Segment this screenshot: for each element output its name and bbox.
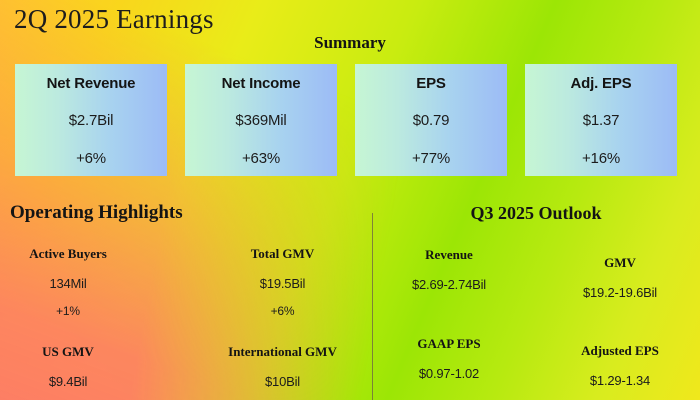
operating-highlights-heading: Operating Highlights <box>10 202 183 224</box>
section-divider <box>372 213 373 400</box>
metric-card-net-revenue: Net Revenue $2.7Bil +6% <box>15 64 167 176</box>
stat-label: GAAP EPS <box>381 336 517 352</box>
stat-value: $10Bil <box>205 374 360 389</box>
stat-international-gmv: International GMV $10Bil <box>205 344 360 389</box>
stat-label: Adjusted EPS <box>545 343 695 359</box>
metric-card-value: $369Mil <box>235 112 286 129</box>
stat-value: $2.69-2.74Bil <box>381 277 517 292</box>
stat-value: 134Mil <box>3 276 133 291</box>
metric-card-title: EPS <box>416 75 445 92</box>
stat-active-buyers: Active Buyers 134Mil +1% <box>3 246 133 318</box>
metric-card-title: Net Income <box>222 75 301 92</box>
metric-card-adj-eps: Adj. EPS $1.37 +16% <box>525 64 677 176</box>
metric-card-value: $1.37 <box>583 112 620 129</box>
stat-label: Revenue <box>381 247 517 263</box>
metric-card-change: +77% <box>412 150 450 167</box>
outlook-adjusted-eps: Adjusted EPS $1.29-1.34 <box>545 343 695 388</box>
stat-change: +6% <box>205 304 360 318</box>
page-title: 2Q 2025 Earnings <box>14 4 214 35</box>
summary-section-heading: Summary <box>0 33 700 53</box>
stat-total-gmv: Total GMV $19.5Bil +6% <box>205 246 360 318</box>
stat-label: Total GMV <box>205 246 360 262</box>
infographic-canvas: 2Q 2025 Earnings Summary Net Revenue $2.… <box>0 0 700 400</box>
metric-card-change: +16% <box>582 150 620 167</box>
metric-card-title: Net Revenue <box>47 75 136 92</box>
stat-label: GMV <box>545 255 695 271</box>
stat-change: +1% <box>3 304 133 318</box>
stat-value: $19.2-19.6Bil <box>545 285 695 300</box>
metric-card-value: $2.7Bil <box>69 112 113 129</box>
metric-card-net-income: Net Income $369Mil +63% <box>185 64 337 176</box>
outlook-revenue: Revenue $2.69-2.74Bil <box>381 247 517 292</box>
stat-label: US GMV <box>3 344 133 360</box>
stat-value: $0.97-1.02 <box>381 366 517 381</box>
stat-value: $9.4Bil <box>3 374 133 389</box>
metric-card-eps: EPS $0.79 +77% <box>355 64 507 176</box>
outlook-heading: Q3 2025 Outlook <box>372 203 700 224</box>
metric-card-change: +63% <box>242 150 280 167</box>
metric-card-title: Adj. EPS <box>571 75 632 92</box>
outlook-gaap-eps: GAAP EPS $0.97-1.02 <box>381 336 517 381</box>
stat-label: International GMV <box>205 344 360 360</box>
stat-value: $1.29-1.34 <box>545 373 695 388</box>
stat-label: Active Buyers <box>3 246 133 262</box>
stat-us-gmv: US GMV $9.4Bil <box>3 344 133 389</box>
metric-card-value: $0.79 <box>413 112 450 129</box>
summary-card-row: Net Revenue $2.7Bil +6% Net Income $369M… <box>15 64 677 176</box>
stat-value: $19.5Bil <box>205 276 360 291</box>
outlook-gmv: GMV $19.2-19.6Bil <box>545 255 695 300</box>
metric-card-change: +6% <box>76 150 106 167</box>
